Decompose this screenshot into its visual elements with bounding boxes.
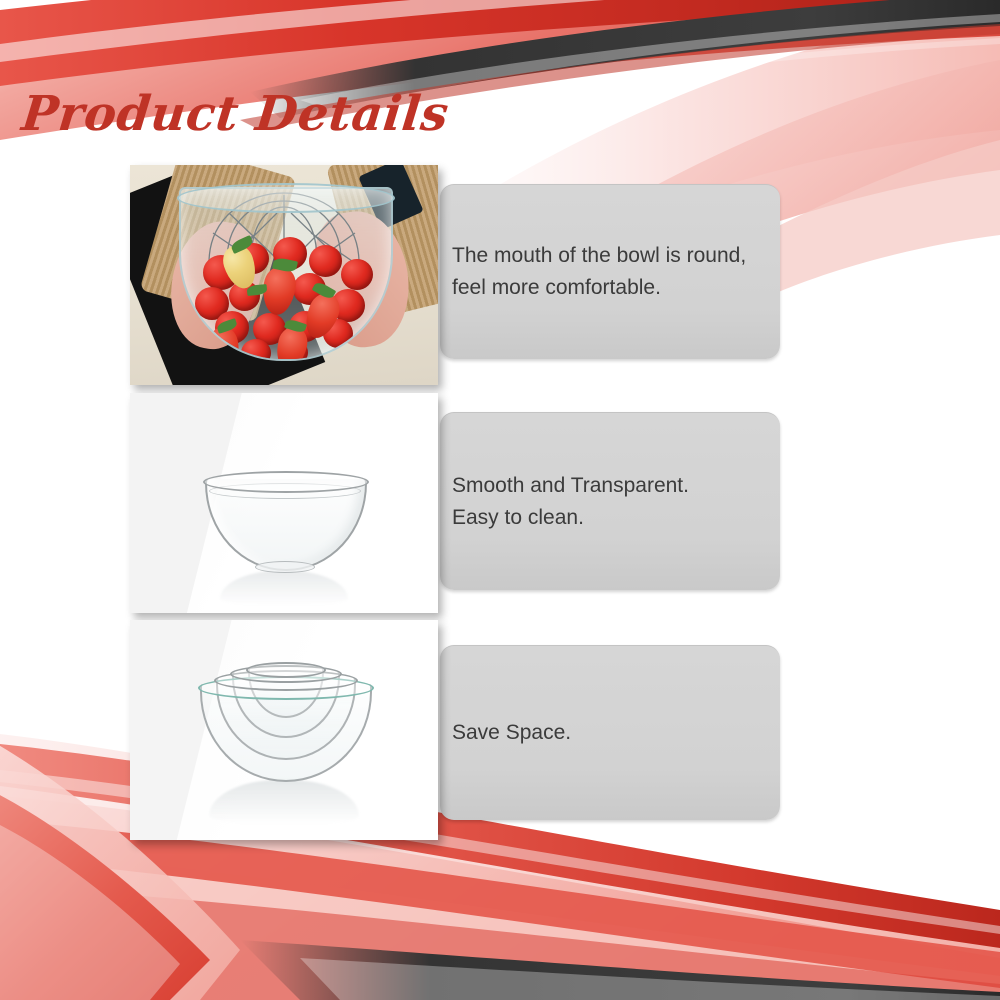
- feature-panel-3: Save Space.: [440, 645, 780, 820]
- feature-row-2: Smooth and Transparent. Easy to clean.: [0, 393, 1000, 613]
- page-title: Product Details: [19, 86, 451, 142]
- feature-panel-1: The mouth of the bowl is round, feel mor…: [440, 184, 780, 359]
- feature-image-1: [130, 165, 438, 385]
- feature-panel-2: Smooth and Transparent. Easy to clean.: [440, 412, 780, 590]
- feature-text-1: The mouth of the bowl is round, feel mor…: [440, 240, 760, 304]
- feature-image-3: [130, 620, 438, 840]
- product-details-infographic: Product Details The mouth of the bowl is…: [0, 0, 1000, 1000]
- fruit-group: [181, 189, 391, 359]
- feature-row-1: The mouth of the bowl is round, feel mor…: [0, 165, 1000, 385]
- feature-image-2: [130, 393, 438, 613]
- feature-text-3: Save Space.: [440, 717, 585, 749]
- feature-text-2: Smooth and Transparent. Easy to clean.: [440, 470, 703, 534]
- glass-bowl-shape: [179, 187, 393, 361]
- feature-row-3: Save Space.: [0, 620, 1000, 840]
- nested-bowl-rim-smallest: [246, 662, 326, 678]
